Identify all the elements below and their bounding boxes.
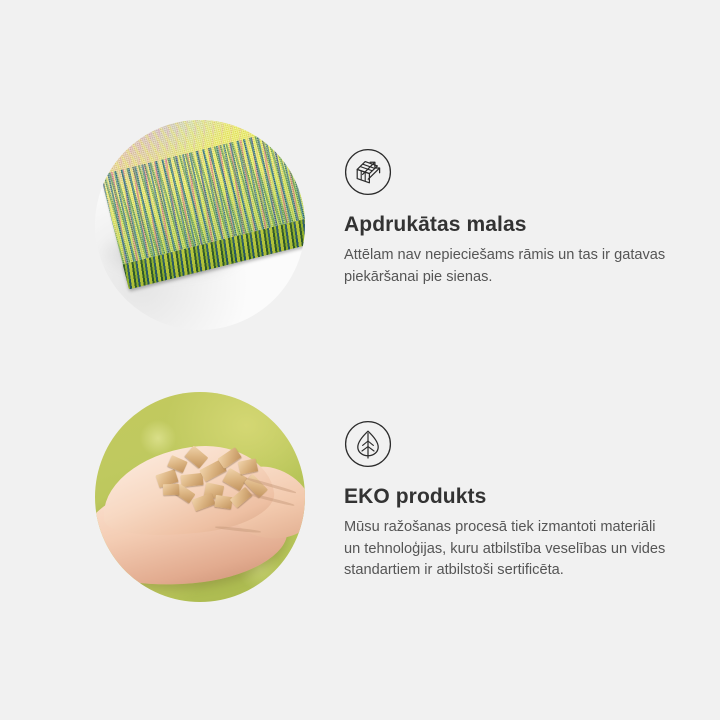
leaf-icon bbox=[344, 420, 392, 468]
feature-text-column: Apdrukātas malas Attēlam nav nepieciešam… bbox=[344, 118, 684, 288]
feature-title: Apdrukātas malas bbox=[344, 212, 684, 238]
canvas-corner-photo bbox=[95, 120, 305, 330]
hands-wood-chips-photo bbox=[95, 392, 305, 602]
feature-text-column: EKO produkts Mūsu ražošanas procesā tiek… bbox=[344, 390, 684, 582]
feature-description: Mūsu ražošanas procesā tiek izmantoti ma… bbox=[344, 517, 669, 582]
grass-backdrop bbox=[95, 392, 305, 602]
feature-block-eco-product: EKO produkts Mūsu ražošanas procesā tiek… bbox=[0, 390, 720, 605]
feature-block-printed-edges: Apdrukātas malas Attēlam nav nepieciešam… bbox=[0, 118, 720, 333]
canvas-photo-backdrop bbox=[95, 120, 305, 330]
product-features-page: Apdrukātas malas Attēlam nav nepieciešam… bbox=[0, 0, 720, 720]
canvas-artwork bbox=[95, 120, 305, 330]
feature-description: Attēlam nav nepieciešams rāmis un tas ir… bbox=[344, 245, 669, 288]
canvas-wrapped-edge-icon bbox=[344, 148, 392, 196]
feature-title: EKO produkts bbox=[344, 484, 684, 510]
